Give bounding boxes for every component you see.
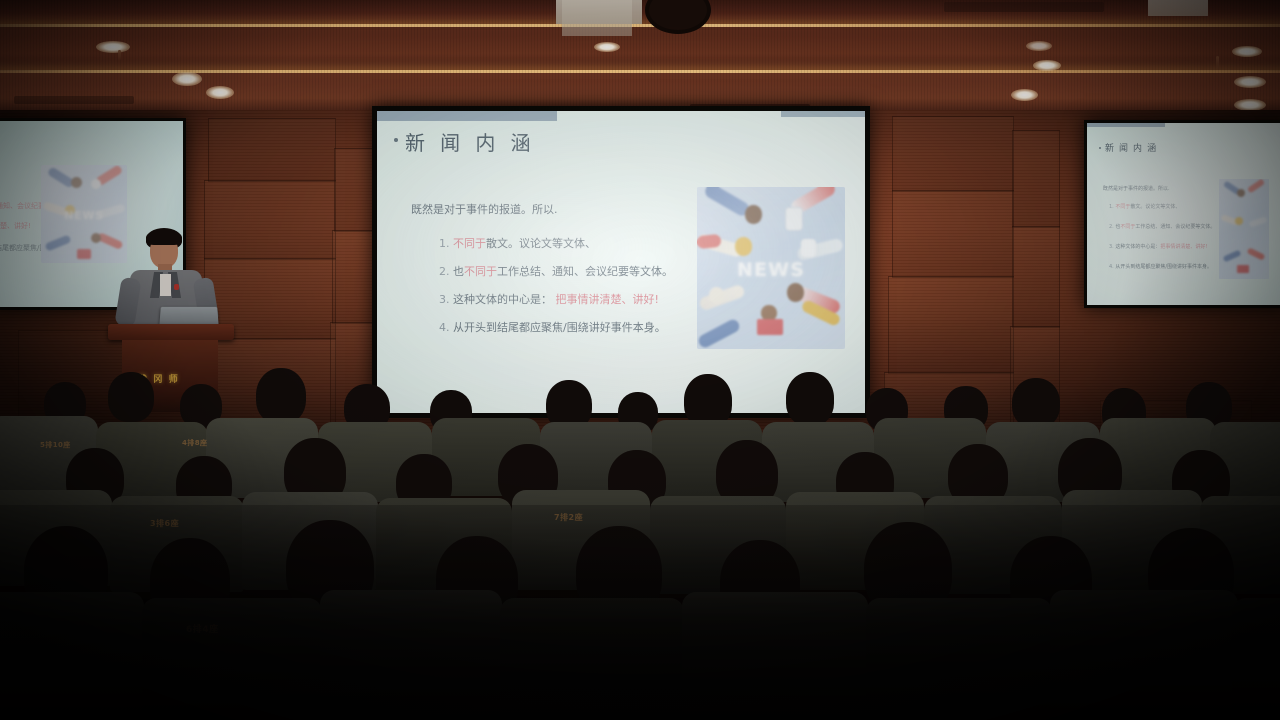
right-screen-lead: 既然是对于事件的报道。所以. — [1103, 185, 1170, 192]
slide-title: 新 闻 内 涵 — [405, 127, 535, 156]
slide-item-2: 2. 也不同于工作总结、通知、会议纪要等文体。 — [439, 263, 673, 279]
seat-number: 5排10座 — [40, 440, 71, 450]
audience-head — [108, 372, 154, 422]
slide-top-band — [377, 111, 557, 121]
ceiling-spotlight — [1234, 76, 1266, 88]
lapel-badge — [174, 284, 179, 290]
ceiling-spotlight — [594, 42, 620, 52]
lecture-hall-photo: 工作总结、通知、会议纪要等文体。 把事情讲清楚、讲好! 从开头到结尾都应聚焦/围… — [0, 0, 1280, 720]
audience-head — [1012, 378, 1060, 428]
slide-item-4: 4. 从开头到结尾都应聚焦/围绕讲好事件本身。 — [439, 319, 666, 335]
slide-item-1-text: 散文。议论文等文体、 — [486, 237, 596, 250]
slide-item-3: 3. 这种文体的中心是： 把事情讲清楚、讲好! — [439, 291, 659, 307]
news-microphones-illustration: NEWS — [697, 187, 845, 349]
audience-head — [256, 368, 306, 424]
slide-item-3-highlight: 把事情讲清楚、讲好! — [556, 293, 659, 306]
right-item-rest: 散文。议论文等文体、 — [1130, 204, 1180, 210]
ceiling-panel — [1148, 0, 1208, 16]
right-item-num: 3. — [1109, 244, 1114, 250]
right-item-red: 不同于 — [1120, 224, 1135, 230]
right-item-pre: 这种文体的中心是： — [1115, 244, 1160, 250]
right-screen-title: 新 闻 内 涵 — [1105, 141, 1157, 154]
right-item-num: 2. — [1109, 224, 1114, 230]
right-item-red: 把事情讲清楚、讲好! — [1160, 244, 1207, 250]
right-item-num: 1. — [1109, 204, 1114, 210]
slide-item-2-pre: 也 — [453, 265, 464, 278]
ceiling-spotlight — [172, 72, 202, 86]
slide-item-1: 1. 不同于散文。议论文等文体、 — [439, 235, 596, 251]
slide-item-2-highlight: 不同于 — [464, 265, 497, 278]
right-projection-screen: 新 闻 内 涵 既然是对于事件的报道。所以. 1. 不同于散文。议论文等文体、 … — [1084, 120, 1280, 308]
ceiling — [0, 0, 1280, 118]
ceiling-spotlight — [206, 86, 234, 99]
bullet-dot-icon — [394, 138, 398, 142]
right-item-rest: 工作总结、通知、会议纪要等文体。 — [1135, 224, 1215, 230]
ceiling-spotlight — [1026, 41, 1052, 51]
slide-top-band-right — [781, 111, 865, 117]
slide-item-3-pre: 这种文体的中心是： — [453, 293, 552, 306]
right-screen-news-artwork — [1219, 179, 1269, 279]
audience-area: 5排10座 4排8座 3排6座 7排2座 — [0, 360, 1280, 720]
slide-item-2-text: 工作总结、通知、会议纪要等文体。 — [497, 265, 673, 278]
slide-item-4-num: 4. — [439, 321, 450, 334]
ceiling-spotlight — [1232, 46, 1262, 57]
slide-item-4-text: 从开头到结尾都应聚焦/围绕讲好事件本身。 — [453, 321, 666, 334]
audience-head — [786, 372, 834, 426]
ceiling-panel — [562, 0, 632, 36]
slide-item-1-highlight: 不同于 — [453, 237, 486, 250]
right-item-num: 4. — [1109, 264, 1114, 270]
ceiling-spotlight — [1011, 89, 1038, 101]
right-item-red: 不同于 — [1115, 204, 1130, 210]
ceiling-spotlight — [1033, 60, 1061, 71]
left-screen-text-2: 把事情讲清楚、讲好! — [0, 222, 31, 230]
foreground-shadow — [0, 505, 1280, 720]
seat-number: 4排8座 — [182, 438, 207, 448]
ceiling-spotlight — [96, 41, 130, 53]
slide-item-3-num: 3. — [439, 293, 450, 306]
bullet-dot-icon — [1099, 147, 1101, 149]
slide-lead-text: 既然是对于事件的报道。所以. — [411, 201, 558, 217]
podium-top — [108, 324, 234, 340]
slide-item-2-num: 2. — [439, 265, 450, 278]
right-item-pre: 从开头到结尾都应聚焦/围绕讲好事件本身。 — [1115, 264, 1212, 270]
slide-item-1-num: 1. — [439, 237, 450, 250]
